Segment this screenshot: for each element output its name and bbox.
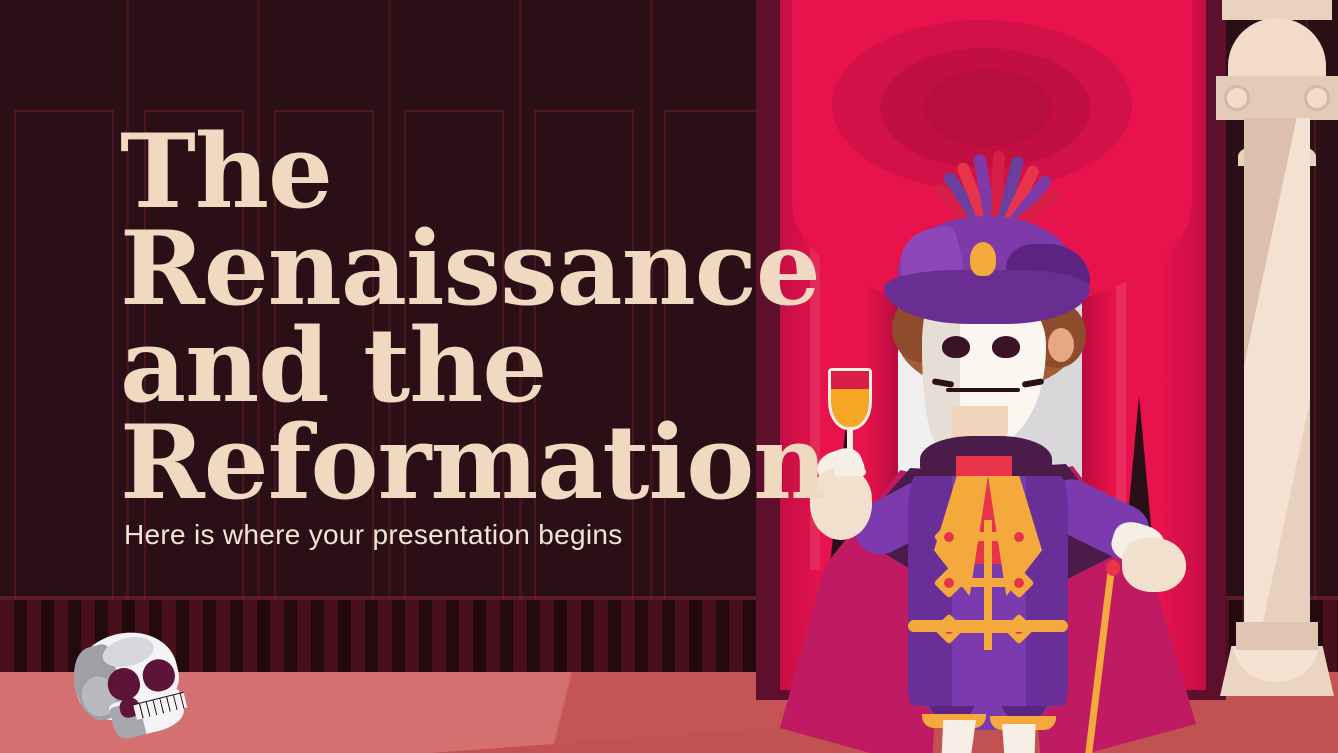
column-shaft	[1244, 118, 1310, 630]
column-volutes	[1216, 76, 1338, 120]
hand-right	[1122, 538, 1186, 592]
column-echinus	[1228, 18, 1326, 78]
wall-panel	[14, 110, 114, 600]
slide-title: The Renaissance and the Reformation	[120, 124, 740, 512]
ionic-column	[1216, 0, 1338, 694]
column-abacus	[1222, 0, 1332, 20]
doublet-shade-right	[1026, 476, 1068, 706]
column-volute-right	[1304, 85, 1330, 111]
cane-knob	[1106, 560, 1120, 576]
frog-dot	[944, 578, 954, 588]
mask-mouth	[946, 388, 1020, 392]
wine-glass-foot	[834, 468, 866, 476]
presentation-slide: The Renaissance and the Reformation Here…	[0, 0, 1338, 753]
column-base-upper	[1236, 622, 1318, 650]
wine-glass-stem	[847, 428, 853, 472]
frog-dot	[1014, 578, 1024, 588]
title-line: Reformation	[120, 415, 740, 512]
ear	[1048, 328, 1074, 362]
mask-eye-left	[942, 336, 970, 358]
hat-jewel	[970, 242, 996, 276]
frog-dot	[944, 532, 954, 542]
title-line: and the	[120, 318, 740, 415]
wine-glass-liquid	[831, 371, 869, 389]
title-line: The	[120, 124, 740, 221]
mask-eye-right	[992, 336, 1020, 358]
column-volute-left	[1224, 85, 1250, 111]
title-line: Renaissance	[120, 221, 740, 318]
frog-dot	[1014, 532, 1024, 542]
slide-subtitle: Here is where your presentation begins	[124, 519, 623, 551]
belt	[908, 620, 1068, 632]
